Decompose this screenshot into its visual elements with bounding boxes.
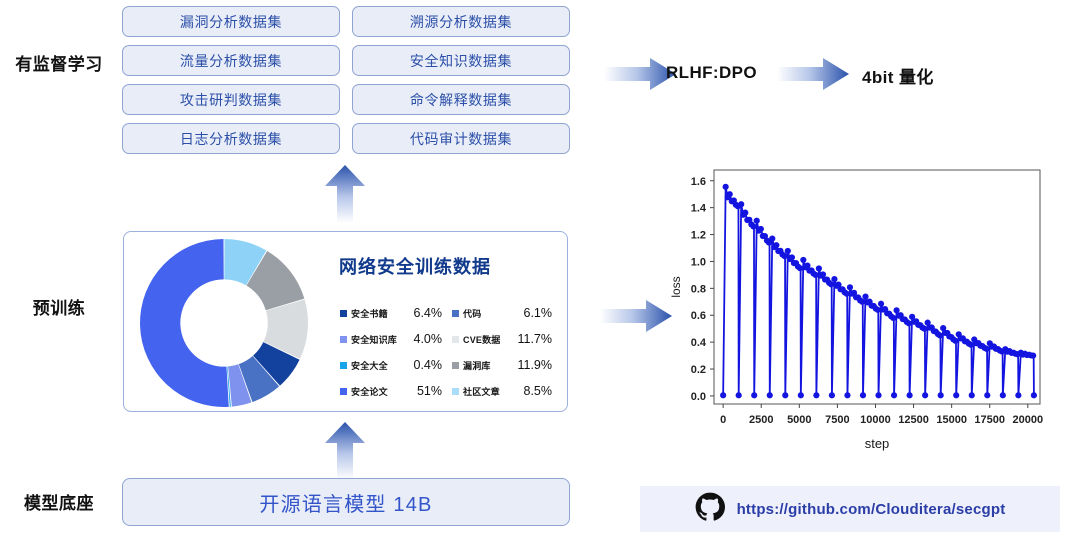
dataset-box[interactable]: 安全知识数据集 bbox=[352, 45, 570, 76]
loss-point bbox=[828, 281, 834, 287]
donut-legend: 安全书籍 6.4% 代码 6.1% 安全知识库 4.0% CVE数据 11.7%… bbox=[340, 300, 562, 404]
loss-point bbox=[1000, 392, 1006, 398]
legend-label: CVE数据 bbox=[463, 333, 501, 346]
loss-point bbox=[862, 294, 868, 300]
legend-value: 6.1% bbox=[524, 306, 563, 320]
x-tick-label: 15000 bbox=[936, 414, 967, 426]
legend-label: 安全书籍 bbox=[351, 307, 388, 320]
legend-label: 代码 bbox=[463, 307, 481, 320]
loss-point bbox=[812, 272, 818, 278]
loss-point bbox=[968, 342, 974, 348]
stage-label-base-model: 模型底座 bbox=[0, 495, 118, 512]
legend-item: 漏洞库 11.9% bbox=[452, 358, 562, 372]
loss-point bbox=[785, 248, 791, 254]
loss-point bbox=[798, 392, 804, 398]
loss-point bbox=[1031, 392, 1037, 398]
loss-point bbox=[1030, 352, 1036, 358]
loss-point bbox=[953, 392, 959, 398]
x-tick-label: 17500 bbox=[974, 414, 1005, 426]
github-icon bbox=[695, 492, 725, 527]
base-model-box[interactable]: 开源语言模型 14B bbox=[122, 478, 570, 526]
legend-item: 社区文章 8.5% bbox=[452, 384, 562, 398]
loss-point bbox=[922, 392, 928, 398]
loss-point bbox=[893, 307, 899, 313]
loss-point bbox=[859, 299, 865, 305]
legend-label: 安全论文 bbox=[351, 385, 388, 398]
y-tick-label: 1.4 bbox=[691, 203, 707, 215]
legend-label: 漏洞库 bbox=[463, 359, 491, 372]
donut-chart bbox=[138, 237, 310, 409]
y-tick-label: 1.2 bbox=[691, 230, 706, 242]
legend-label: 社区文章 bbox=[463, 385, 500, 398]
dataset-box[interactable]: 溯源分析数据集 bbox=[352, 6, 570, 37]
loss-point bbox=[727, 191, 733, 197]
loss-point bbox=[860, 392, 866, 398]
y-tick-label: 0.0 bbox=[691, 391, 706, 403]
loss-point bbox=[831, 276, 837, 282]
loss-point bbox=[921, 326, 927, 332]
loss-point bbox=[891, 392, 897, 398]
legend-item: 代码 6.1% bbox=[452, 306, 562, 320]
pretrain-data-card: 网络安全训练数据 安全书籍 6.4% 代码 6.1% 安全知识库 4.0% CV… bbox=[123, 231, 568, 412]
y-tick-label: 0.6 bbox=[691, 310, 706, 322]
github-link-bar[interactable]: https://github.com/Clouditera/secgpt bbox=[640, 486, 1060, 532]
loss-point bbox=[736, 392, 742, 398]
stage-label-supervised: 有监督学习 bbox=[0, 56, 118, 73]
y-tick-label: 1.6 bbox=[691, 176, 706, 188]
dataset-box[interactable]: 流量分析数据集 bbox=[122, 45, 340, 76]
loss-point bbox=[906, 320, 912, 326]
legend-label: 安全大全 bbox=[351, 359, 388, 372]
arrow-right-icon bbox=[600, 300, 672, 332]
loss-point bbox=[720, 392, 726, 398]
legend-value: 0.4% bbox=[414, 358, 453, 372]
loss-point bbox=[847, 284, 853, 290]
loss-point bbox=[813, 392, 819, 398]
loss-point bbox=[952, 338, 958, 344]
dataset-box[interactable]: 漏洞分析数据集 bbox=[122, 6, 340, 37]
loss-point bbox=[938, 392, 944, 398]
loss-point bbox=[1015, 392, 1021, 398]
legend-value: 11.7% bbox=[517, 332, 562, 346]
github-url-text[interactable]: https://github.com/Clouditera/secgpt bbox=[737, 501, 1006, 518]
legend-swatch-icon bbox=[452, 336, 459, 343]
legend-item: 安全论文 51% bbox=[340, 384, 452, 398]
y-tick-label: 0.8 bbox=[691, 283, 706, 295]
legend-swatch-icon bbox=[340, 310, 347, 317]
y-tick-label: 0.2 bbox=[691, 364, 706, 376]
loss-point bbox=[829, 392, 835, 398]
legend-swatch-icon bbox=[452, 310, 459, 317]
legend-item: CVE数据 11.7% bbox=[452, 332, 562, 346]
loss-point bbox=[751, 392, 757, 398]
stage-label-pretrain: 预训练 bbox=[0, 300, 118, 317]
x-tick-label: 2500 bbox=[749, 414, 773, 426]
legend-swatch-icon bbox=[340, 336, 347, 343]
rlhf-label: RLHF:DPO bbox=[666, 63, 757, 83]
y-axis-label: loss bbox=[669, 276, 683, 297]
loss-point bbox=[984, 392, 990, 398]
loss-point bbox=[800, 257, 806, 263]
legend-swatch-icon bbox=[340, 362, 347, 369]
loss-point bbox=[844, 392, 850, 398]
legend-value: 8.5% bbox=[524, 384, 563, 398]
x-axis-label: step bbox=[865, 436, 890, 451]
legend-value: 51% bbox=[417, 384, 452, 398]
legend-item: 安全大全 0.4% bbox=[340, 358, 452, 372]
x-tick-label: 5000 bbox=[787, 414, 811, 426]
legend-value: 11.9% bbox=[517, 358, 562, 372]
legend-value: 4.0% bbox=[414, 332, 453, 346]
loss-point bbox=[773, 242, 779, 248]
dataset-box[interactable]: 日志分析数据集 bbox=[122, 123, 340, 154]
legend-swatch-icon bbox=[340, 388, 347, 395]
loss-point bbox=[907, 392, 913, 398]
loss-point bbox=[769, 236, 775, 242]
loss-point bbox=[789, 254, 795, 260]
loss-point bbox=[983, 346, 989, 352]
loss-point bbox=[878, 301, 884, 307]
legend-swatch-icon bbox=[452, 362, 459, 369]
loss-point bbox=[875, 307, 881, 313]
donut-slice bbox=[140, 239, 229, 407]
loss-point bbox=[754, 218, 760, 224]
legend-item: 安全知识库 4.0% bbox=[340, 332, 452, 346]
dataset-box[interactable]: 命令解释数据集 bbox=[352, 84, 570, 115]
quantization-label: 4bit 量化 bbox=[862, 63, 934, 88]
loss-point bbox=[750, 223, 756, 229]
loss-point bbox=[937, 332, 943, 338]
loss-point bbox=[875, 392, 881, 398]
y-tick-label: 1.0 bbox=[691, 256, 706, 268]
dataset-box[interactable]: 代码审计数据集 bbox=[352, 123, 570, 154]
arrow-up-icon bbox=[325, 422, 365, 480]
arrow-right-icon bbox=[777, 58, 849, 90]
plot-frame bbox=[714, 170, 1040, 404]
loss-point bbox=[844, 291, 850, 297]
x-tick-label: 20000 bbox=[1013, 414, 1044, 426]
loss-point bbox=[781, 253, 787, 259]
loss-point bbox=[890, 315, 896, 321]
loss-point bbox=[738, 201, 744, 207]
loss-point bbox=[816, 265, 822, 271]
legend-item: 安全书籍 6.4% bbox=[340, 306, 452, 320]
x-tick-label: 12500 bbox=[898, 414, 929, 426]
y-tick-label: 0.4 bbox=[691, 337, 707, 349]
loss-point bbox=[723, 184, 729, 190]
training-loss-chart: 025005000750010000125001500017500200000.… bbox=[668, 158, 1050, 454]
loss-point bbox=[782, 392, 788, 398]
x-tick-label: 0 bbox=[720, 414, 726, 426]
legend-swatch-icon bbox=[452, 388, 459, 395]
x-tick-label: 10000 bbox=[860, 414, 891, 426]
legend-value: 6.4% bbox=[414, 306, 453, 320]
loss-point bbox=[767, 392, 773, 398]
loss-line bbox=[723, 187, 1034, 395]
loss-point bbox=[969, 392, 975, 398]
dataset-grid: 漏洞分析数据集 溯源分析数据集 流量分析数据集 安全知识数据集 攻击研判数据集 … bbox=[122, 6, 570, 154]
arrow-up-icon bbox=[325, 165, 365, 223]
loss-point bbox=[758, 226, 764, 232]
legend-label: 安全知识库 bbox=[351, 333, 397, 346]
chart-title: 网络安全训练数据 bbox=[339, 253, 491, 279]
loss-point bbox=[742, 210, 748, 216]
dataset-box[interactable]: 攻击研判数据集 bbox=[122, 84, 340, 115]
loss-point bbox=[797, 265, 803, 271]
x-tick-label: 7500 bbox=[825, 414, 849, 426]
